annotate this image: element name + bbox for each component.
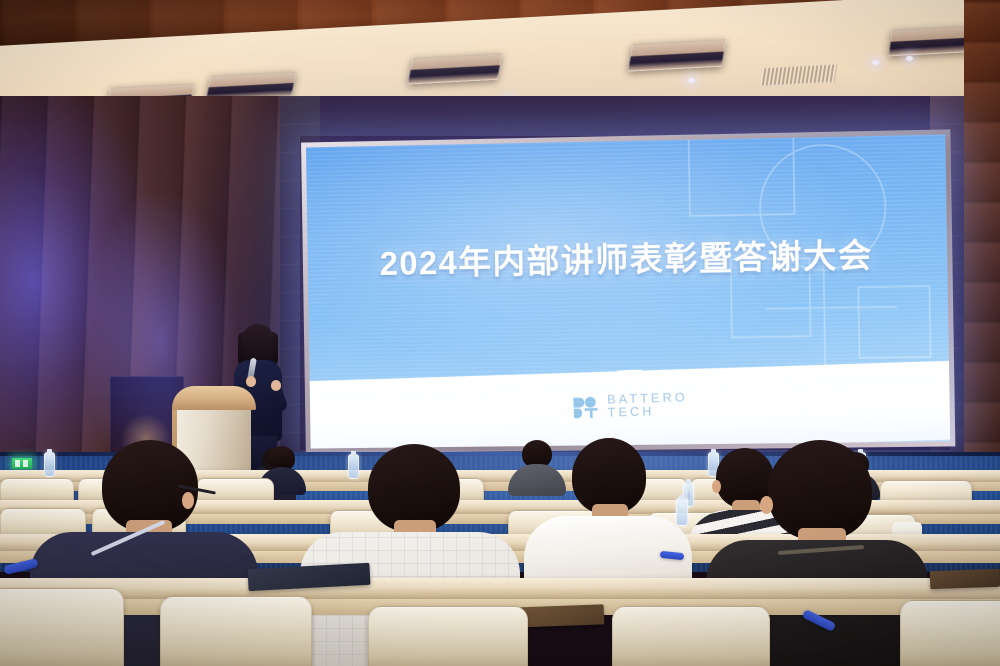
audience-ear xyxy=(182,492,194,509)
chair-front-right xyxy=(900,600,1000,666)
projection-screen-frame: 2024年内部讲师表彰暨答谢大会 BATTERO TECH xyxy=(301,129,955,453)
slide-brand-wordmark: BATTERO TECH xyxy=(607,391,688,419)
ceiling-downlight-6 xyxy=(906,56,913,61)
chair-front-left xyxy=(0,588,124,666)
battero-logo-mark-icon xyxy=(573,396,600,419)
presenter-hair xyxy=(242,324,274,364)
notebook-right xyxy=(930,569,1000,589)
ceiling-vent-box-4 xyxy=(628,39,726,71)
projection-screen: 2024年内部讲师表彰暨答谢大会 BATTERO TECH xyxy=(306,134,950,448)
presenter-hand-right xyxy=(271,380,281,391)
exit-sign xyxy=(12,458,32,469)
audience-head xyxy=(572,438,646,514)
chair-front-mid-left xyxy=(160,596,312,666)
desk-row-front xyxy=(0,578,1000,600)
exit-sign-glyph-b xyxy=(23,460,28,467)
ceiling-vent-box-3 xyxy=(408,53,503,84)
audience-ear xyxy=(760,496,773,514)
chair-front-mid-right xyxy=(612,606,770,666)
brand-line-2: TECH xyxy=(607,404,688,419)
chair-front-mid xyxy=(368,606,528,666)
slide-title: 2024年内部讲师表彰暨答谢大会 xyxy=(307,227,947,286)
audience-head xyxy=(768,440,872,540)
band-notch-icon xyxy=(616,370,642,384)
audience-member-white-tshirt xyxy=(524,438,692,588)
conference-room-photo: 2024年内部讲师表彰暨答谢大会 BATTERO TECH xyxy=(0,0,1000,666)
exit-sign-glyph-a xyxy=(15,460,20,467)
audience-head xyxy=(368,444,460,532)
ceiling-downlight-5 xyxy=(872,60,879,65)
podium-top xyxy=(172,386,256,410)
ceiling-downlight-4 xyxy=(688,78,695,83)
slide-brand-logo: BATTERO TECH xyxy=(573,391,688,420)
